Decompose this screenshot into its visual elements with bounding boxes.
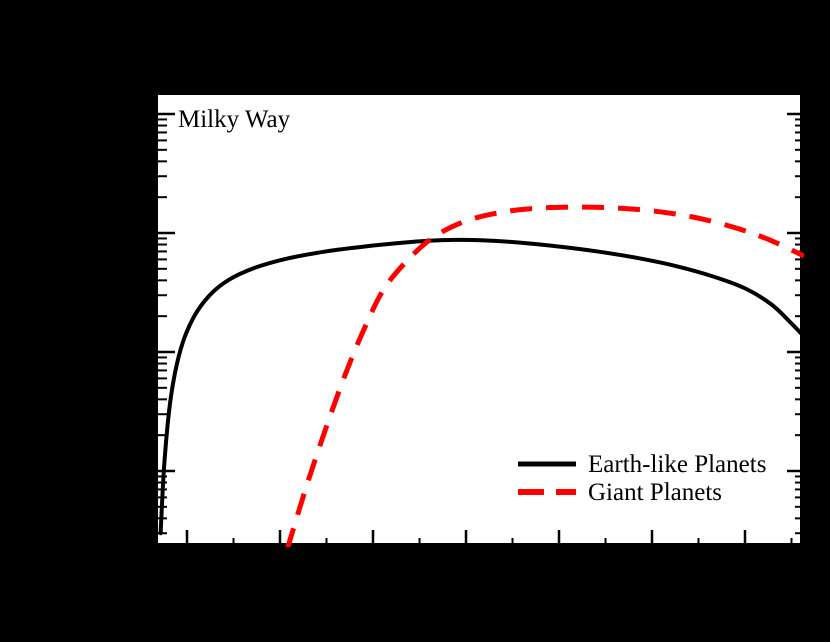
legend-swatch-solid-line — [516, 454, 578, 474]
legend-item-giant-planets: Giant Planets — [516, 478, 796, 506]
legend-label-giant-planets: Giant Planets — [588, 480, 722, 505]
plot-area: Milky Way Earth-like Planets Giant Plane… — [156, 93, 802, 545]
x-axis-ticks — [187, 530, 792, 547]
legend-label-earth-like-planets: Earth-like Planets — [588, 452, 766, 477]
legend-swatch-dashed-line — [516, 482, 578, 502]
chart-title: Milky Way — [178, 107, 290, 133]
figure-canvas: Milky Way Earth-like Planets Giant Plane… — [0, 0, 830, 642]
chart-legend: Earth-like Planets Giant Planets — [516, 450, 796, 506]
legend-item-earth-like-planets: Earth-like Planets — [516, 450, 796, 478]
